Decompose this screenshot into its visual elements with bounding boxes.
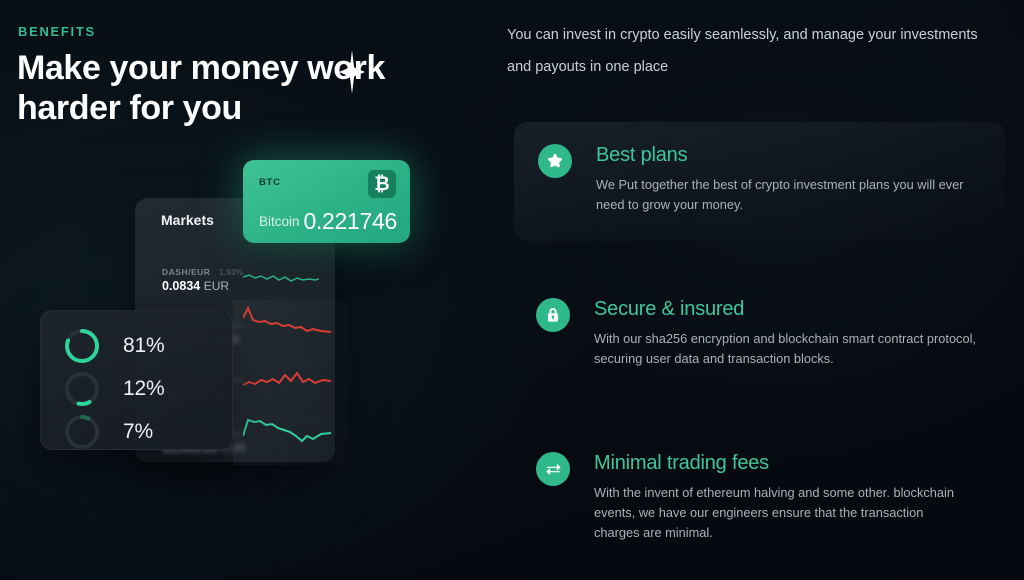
donut-chart-icon bbox=[61, 325, 103, 367]
market-sparkline bbox=[243, 268, 319, 290]
allocation-value: 12% bbox=[123, 377, 164, 401]
allocation-item: 81% bbox=[61, 325, 164, 367]
market-sparkline bbox=[243, 300, 331, 344]
allocation-value: 81% bbox=[123, 334, 164, 358]
allocation-item: 12% bbox=[61, 368, 164, 410]
feature-description: We Put together the best of crypto inves… bbox=[596, 175, 976, 215]
feature-description: With our sha256 encryption and blockchai… bbox=[594, 329, 986, 369]
left-column: BENEFITS Make your money work harder for… bbox=[0, 0, 490, 580]
swap-arrows-icon bbox=[536, 452, 570, 486]
allocation-value: 7% bbox=[123, 420, 153, 444]
donut-chart-icon bbox=[61, 368, 103, 410]
market-currency: EUR bbox=[204, 279, 229, 293]
feature-description: With the invent of ethereum halving and … bbox=[594, 483, 962, 544]
feature-title: Best plans bbox=[596, 144, 1005, 167]
market-change: 1.93% bbox=[219, 267, 243, 277]
lock-icon bbox=[536, 298, 570, 332]
market-value: 0.0834 EUR bbox=[162, 279, 229, 293]
bitcoin-icon: ₿ bbox=[368, 170, 396, 198]
feature-title: Secure & insured bbox=[594, 298, 1010, 321]
feature-card-best-plans[interactable]: Best plans We Put together the best of c… bbox=[514, 122, 1005, 241]
feature-title: Minimal trading fees bbox=[594, 452, 1010, 475]
right-column: You can invest in crypto easily seamless… bbox=[490, 0, 1024, 580]
btc-amount: 0.221746 bbox=[303, 208, 397, 235]
intro-paragraph: You can invest in crypto easily seamless… bbox=[507, 20, 993, 83]
btc-balance-card[interactable]: BTC ₿ Bitcoin 0.221746 bbox=[243, 160, 410, 243]
market-sparkline bbox=[243, 355, 331, 399]
market-sparkline bbox=[243, 408, 331, 454]
star-icon bbox=[538, 144, 572, 178]
markets-title: Markets bbox=[161, 212, 214, 228]
btc-symbol: BTC bbox=[259, 177, 281, 188]
benefits-section: BENEFITS Make your money work harder for… bbox=[0, 0, 1024, 580]
market-pair: DASH/EUR bbox=[162, 267, 210, 277]
allocation-item: 7% bbox=[61, 411, 153, 453]
feature-card-secure-insured[interactable]: Secure & insured With our sha256 encrypt… bbox=[514, 298, 1010, 369]
btc-name: Bitcoin bbox=[259, 214, 300, 229]
crypto-illustration: Markets DASH/EUR 1.93% 0.0834 EUR BTC/EU… bbox=[0, 0, 490, 580]
allocation-panel: 81% 12% 7% bbox=[40, 310, 233, 450]
feature-card-minimal-fees[interactable]: Minimal trading fees With the invent of … bbox=[514, 452, 1010, 544]
donut-chart-icon bbox=[61, 411, 103, 453]
